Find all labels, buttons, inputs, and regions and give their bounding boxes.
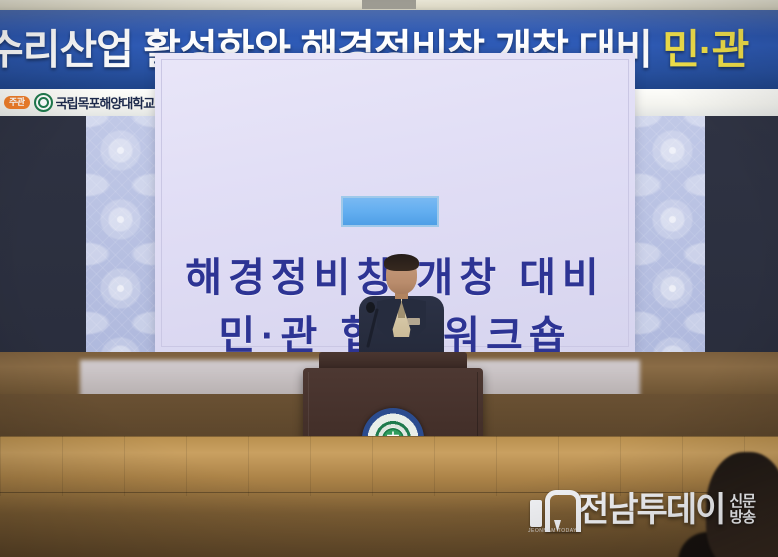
event-banner-text-highlight: 민·관	[662, 26, 748, 72]
speaker-name-badge	[407, 318, 420, 325]
ceiling-fixture	[362, 0, 416, 9]
slide-top-blue-box	[341, 196, 439, 227]
logo-stroke-i	[530, 500, 542, 527]
floor-seam-upper	[0, 436, 778, 437]
speaker-person	[355, 256, 447, 366]
sponsor-tag-host: 주관	[4, 96, 30, 109]
jeonnam-today-logo-icon: JEONNAM TODAY	[528, 488, 574, 532]
press-photo-scene: 수리산업 활성화와 해경정비창 개창 대비 민·관 주관 국립목포해양대학교 선…	[0, 0, 778, 557]
microphone-icon	[366, 302, 375, 313]
sponsor-name-mokpo-maritime-university: 국립목포해양대학교	[56, 93, 155, 112]
watermark-name: 전남투데이	[578, 493, 724, 527]
watermark-media-broadcast: 방송	[729, 510, 755, 526]
mokpo-maritime-university-logo-icon	[34, 93, 53, 112]
watermark-media-newspaper: 신문	[729, 494, 755, 510]
watermark-mark-subtext: JEONNAM TODAY	[528, 528, 577, 534]
watermark: JEONNAM TODAY 전남투데이 신문 방송	[528, 484, 768, 536]
watermark-media-types: 신문 방송	[729, 494, 755, 526]
speaker-hair	[384, 254, 419, 271]
logo-stroke-n	[545, 490, 581, 532]
